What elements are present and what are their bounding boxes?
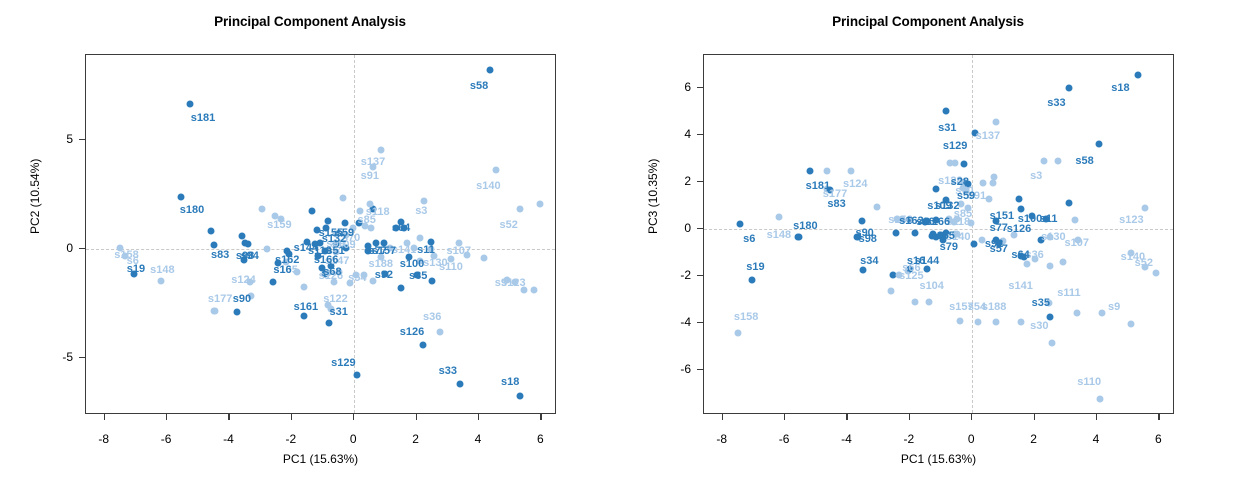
plot-area-left: s137s91s140s118s3s85s52s159s70s99s109s14… <box>86 55 555 413</box>
point-label: s107 <box>1064 237 1088 249</box>
scatter-point <box>354 371 361 378</box>
x-tick-label: 0 <box>350 432 357 446</box>
scatter-point <box>992 119 999 126</box>
scatter-point <box>992 319 999 326</box>
point-label: s59 <box>957 190 975 202</box>
x-tick <box>909 414 910 420</box>
point-label: s90 <box>233 293 251 305</box>
point-label: s144 <box>915 255 939 267</box>
x-tick-label: 6 <box>1155 432 1162 446</box>
point-label: s111 <box>1057 287 1080 299</box>
scatter-point <box>377 146 384 153</box>
point-label: s79 <box>940 241 958 253</box>
point-label: s137 <box>361 156 385 168</box>
scatter-point <box>1016 195 1023 202</box>
y-tick-label: 5 <box>66 132 73 146</box>
point-label: s83 <box>827 198 845 210</box>
point-label: s140 <box>476 180 500 192</box>
x-tick <box>416 414 417 420</box>
scatter-point <box>956 317 963 324</box>
point-label: s126 <box>1007 223 1031 235</box>
scatter-point <box>980 180 987 187</box>
point-label: s33 <box>1047 97 1065 109</box>
scatter-point <box>530 286 537 293</box>
x-tick <box>228 414 229 420</box>
scatter-point <box>301 284 308 291</box>
point-label: s181 <box>191 112 215 124</box>
point-label: s77 <box>990 222 1008 234</box>
x-tick <box>540 414 541 420</box>
point-label: s85 <box>358 214 376 226</box>
point-label: s19 <box>746 261 764 273</box>
point-label: s64 <box>392 222 410 234</box>
point-label: s3 <box>1030 170 1042 182</box>
scatter-point <box>187 101 194 108</box>
point-label: s18 <box>1111 82 1129 94</box>
scatter-point <box>1023 261 1030 268</box>
point-label: s107 <box>446 245 470 257</box>
point-label: s180 <box>793 220 817 232</box>
scatter-point <box>1142 204 1149 211</box>
point-label: s151 <box>990 210 1014 222</box>
y-tick-label: -6 <box>680 362 691 376</box>
scatter-point <box>736 221 743 228</box>
scatter-point <box>263 246 270 253</box>
point-label: s94 <box>241 250 259 262</box>
point-label: s31 <box>329 306 347 318</box>
point-label: s52 <box>1135 257 1153 269</box>
point-label: s100 <box>400 258 424 270</box>
point-label: s11 <box>417 244 435 256</box>
point-label: s126 <box>400 326 424 338</box>
point-label: s36 <box>423 311 441 323</box>
scatter-point <box>1055 157 1062 164</box>
scatter-point <box>970 241 977 248</box>
plot-box-left: s137s91s140s118s3s85s52s159s70s99s109s14… <box>85 54 556 414</box>
x-tick <box>478 414 479 420</box>
point-label: s132 <box>935 200 959 212</box>
x-tick-label: -8 <box>98 432 109 446</box>
scatter-point <box>961 161 968 168</box>
scatter-point <box>259 205 266 212</box>
point-label: s31 <box>938 122 956 134</box>
scatter-point <box>398 285 405 292</box>
y-axis-label-right: PC3 (10.35%) <box>646 159 660 234</box>
scatter-point <box>341 220 348 227</box>
x-tick <box>846 414 847 420</box>
scatter-point <box>986 195 993 202</box>
scatter-point <box>975 319 982 326</box>
scatter-point <box>309 208 316 215</box>
scatter-point <box>1134 72 1141 79</box>
scatter-point <box>911 299 918 306</box>
point-label: s166 <box>926 216 950 228</box>
point-label: s148 <box>767 229 791 241</box>
x-tick <box>104 414 105 420</box>
pca-figure: Principal Component Analysis s137s91s140… <box>0 0 1238 500</box>
x-tick-label: 0 <box>968 432 975 446</box>
pca-panel-pc1-pc2: Principal Component Analysis s137s91s140… <box>0 0 620 500</box>
x-tick-label: 6 <box>537 432 544 446</box>
point-label: s64 <box>1011 249 1029 261</box>
scatter-point <box>486 67 493 74</box>
point-label: s148 <box>150 264 174 276</box>
scatter-point <box>824 168 831 175</box>
scatter-point <box>947 160 954 167</box>
scatter-point <box>480 254 487 261</box>
scatter-point <box>429 277 436 284</box>
point-label: s188 <box>982 301 1006 313</box>
point-label: s35 <box>409 270 427 282</box>
point-label: s123 <box>1119 214 1143 226</box>
scatter-point <box>340 194 347 201</box>
x-axis-label-left: PC1 (15.63%) <box>85 452 556 466</box>
scatter-point <box>210 308 217 315</box>
point-label: s110 <box>439 261 463 273</box>
scatter-point <box>368 225 375 232</box>
point-label: s28 <box>951 176 969 188</box>
point-label: s110 <box>1077 376 1101 388</box>
scatter-point <box>416 235 423 242</box>
scatter-point <box>925 299 932 306</box>
scatter-point <box>1040 157 1047 164</box>
x-tick <box>1034 414 1035 420</box>
point-label: s9 <box>1108 301 1120 313</box>
point-label: s91 <box>361 170 379 182</box>
point-label: s104 <box>919 280 943 292</box>
x-tick-label: 2 <box>412 432 419 446</box>
scatter-point <box>1128 321 1135 328</box>
x-tick-label: -6 <box>161 432 172 446</box>
y-tick-label: -5 <box>62 350 73 364</box>
scatter-point <box>210 241 217 248</box>
scatter-point <box>1065 84 1072 91</box>
x-tick-label: -8 <box>716 432 727 446</box>
point-label: s123 <box>501 277 525 289</box>
point-label: s159 <box>267 219 291 231</box>
y-tick <box>697 134 703 135</box>
point-label: s83 <box>211 249 229 261</box>
scatter-point <box>775 214 782 221</box>
y-tick <box>79 139 85 140</box>
panel-title-left: Principal Component Analysis <box>0 14 620 29</box>
point-label: s180 <box>180 204 204 216</box>
point-label: s141 <box>1008 280 1032 292</box>
scatter-point <box>749 276 756 283</box>
y-tick-label: 0 <box>684 221 691 235</box>
x-tick-label: 4 <box>475 432 482 446</box>
scatter-point <box>1065 200 1072 207</box>
scatter-point <box>847 168 854 175</box>
scatter-point <box>1059 259 1066 266</box>
y-tick <box>697 322 703 323</box>
y-tick <box>697 87 703 88</box>
point-label: s57 <box>990 243 1008 255</box>
point-label: s130 <box>1041 231 1065 243</box>
scatter-point <box>1072 216 1079 223</box>
point-label: s11 <box>1040 213 1058 225</box>
scatter-point <box>1017 319 1024 326</box>
scatter-point <box>888 288 895 295</box>
x-tick <box>1158 414 1159 420</box>
y-tick-label: -2 <box>680 268 691 282</box>
panel-title-right: Principal Component Analysis <box>618 14 1238 29</box>
point-label: s98 <box>859 233 877 245</box>
y-tick-label: 4 <box>684 127 691 141</box>
scatter-point <box>421 198 428 205</box>
scatter-point <box>735 329 742 336</box>
scatter-point <box>516 205 523 212</box>
point-label: s122 <box>323 293 347 305</box>
x-tick <box>291 414 292 420</box>
point-label: s129 <box>331 357 355 369</box>
scatter-point <box>245 240 252 247</box>
scatter-point <box>207 227 214 234</box>
point-label: s19 <box>127 263 145 275</box>
point-label: s30 <box>1030 320 1048 332</box>
scatter-point <box>324 217 331 224</box>
point-label: s68 <box>323 266 341 278</box>
scatter-point <box>437 329 444 336</box>
scatter-point <box>234 309 241 316</box>
scatter-point <box>157 277 164 284</box>
x-tick-label: -2 <box>286 432 297 446</box>
point-label: s52 <box>499 219 517 231</box>
scatter-point <box>796 234 803 241</box>
point-label: s181 <box>806 180 830 192</box>
scatter-point <box>1153 269 1160 276</box>
scatter-point <box>536 201 543 208</box>
x-tick <box>784 414 785 420</box>
point-label: s6 <box>743 233 755 245</box>
y-tick <box>697 369 703 370</box>
scatter-point <box>1047 262 1054 269</box>
point-label: s16 <box>273 264 291 276</box>
x-tick <box>971 414 972 420</box>
point-label: s58 <box>1075 155 1093 167</box>
scatter-point <box>1073 309 1080 316</box>
point-label: s124 <box>231 274 255 286</box>
y-tick <box>697 275 703 276</box>
point-label: s177 <box>208 293 232 305</box>
scatter-point <box>989 180 996 187</box>
point-label: s54 <box>348 272 366 284</box>
scatter-point <box>326 320 333 327</box>
scatter-point <box>1048 340 1055 347</box>
scatter-point <box>911 229 918 236</box>
scatter-point <box>1095 141 1102 148</box>
scatter-point <box>860 267 867 274</box>
scatter-point <box>301 312 308 319</box>
plot-box-right: s137s3s124s128s177s70s91s85s156s118s123s… <box>703 54 1174 414</box>
x-tick-label: -4 <box>841 432 852 446</box>
y-tick <box>79 357 85 358</box>
y-tick-label: 0 <box>66 241 73 255</box>
y-tick <box>697 228 703 229</box>
y-tick-label: 6 <box>684 80 691 94</box>
y-tick-label: -4 <box>680 315 691 329</box>
x-tick <box>1096 414 1097 420</box>
scatter-point <box>1097 395 1104 402</box>
point-label: s158 <box>734 311 758 323</box>
x-axis-label-right: PC1 (15.63%) <box>703 452 1174 466</box>
point-label: s137 <box>976 130 1000 142</box>
scatter-point <box>942 108 949 115</box>
scatter-point <box>270 278 277 285</box>
scatter-point <box>892 229 899 236</box>
point-label: s157 <box>372 245 396 257</box>
scatter-point <box>874 203 881 210</box>
point-label: s18 <box>501 376 519 388</box>
point-label: s3 <box>415 205 427 217</box>
point-label: s58 <box>470 80 488 92</box>
scatter-point <box>807 168 814 175</box>
scatter-point <box>178 193 185 200</box>
point-label: s129 <box>943 140 967 152</box>
point-label: s161 <box>294 301 318 313</box>
scatter-point <box>457 381 464 388</box>
point-label: s166 <box>314 254 338 266</box>
x-tick-label: -4 <box>223 432 234 446</box>
scatter-point <box>516 393 523 400</box>
plot-area-right: s137s3s124s128s177s70s91s85s156s118s123s… <box>704 55 1173 413</box>
x-tick <box>353 414 354 420</box>
x-tick-label: -2 <box>904 432 915 446</box>
point-label: s34 <box>860 255 878 267</box>
scatter-point <box>493 166 500 173</box>
y-tick-label: 2 <box>684 174 691 188</box>
x-tick-label: 2 <box>1030 432 1037 446</box>
y-axis-label-left: PC2 (10.54%) <box>28 159 42 234</box>
x-tick-label: -6 <box>779 432 790 446</box>
x-tick <box>166 414 167 420</box>
point-label: s132 <box>322 233 346 245</box>
point-label: s35 <box>1032 297 1050 309</box>
y-tick <box>697 181 703 182</box>
scatter-point <box>419 342 426 349</box>
zero-gridline-vertical <box>972 55 973 413</box>
x-tick-label: 4 <box>1093 432 1100 446</box>
x-tick <box>722 414 723 420</box>
scatter-point <box>1098 309 1105 316</box>
point-label: s33 <box>439 365 457 377</box>
y-tick <box>79 248 85 249</box>
pca-panel-pc1-pc3: Principal Component Analysis s137s3s124s… <box>618 0 1238 500</box>
scatter-point <box>858 217 865 224</box>
point-label: s92 <box>375 269 393 281</box>
